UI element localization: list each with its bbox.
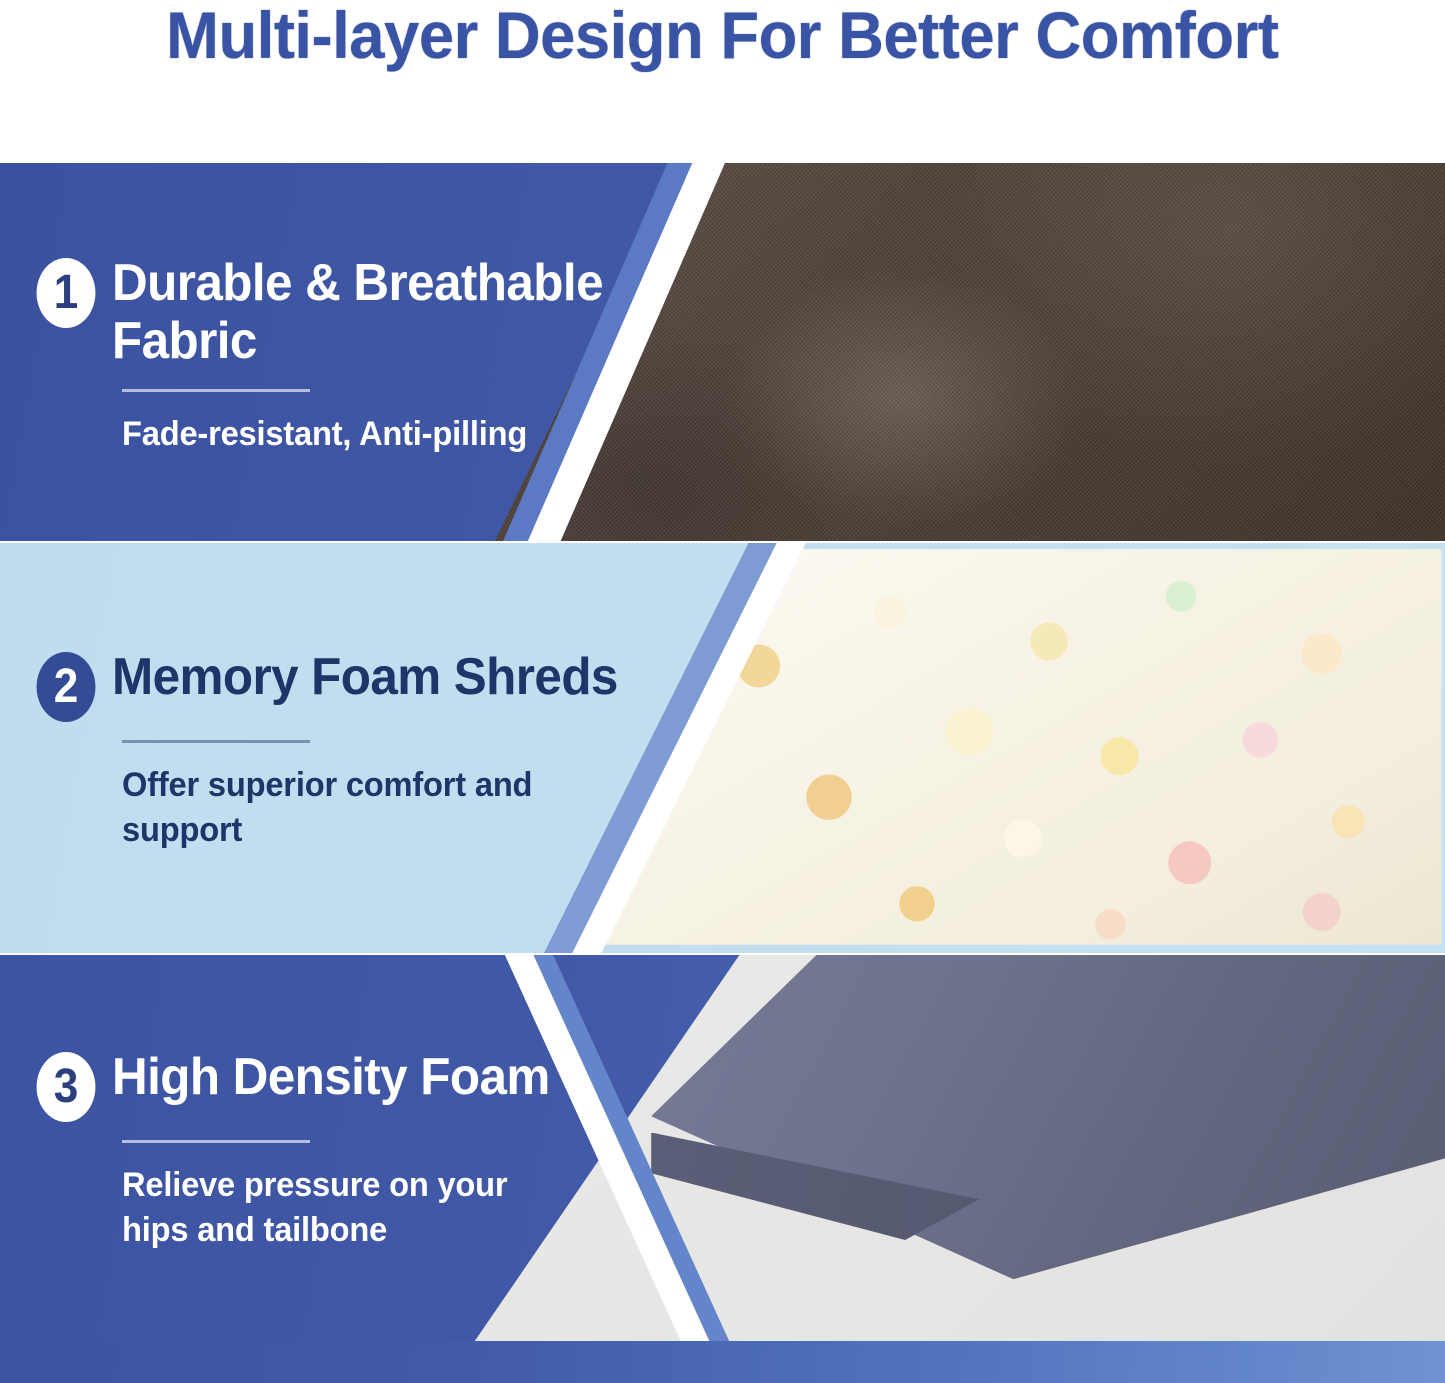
bottom-accent-bar — [0, 1341, 1445, 1383]
panel-1-divider — [122, 389, 310, 392]
step-number-badge-2: 2 — [37, 652, 96, 722]
panel-2-title: Memory Foam Shreds — [112, 648, 618, 707]
foam-block-top-face — [651, 955, 1445, 1279]
panel-2-heading-row: 2 Memory Foam Shreds — [34, 648, 660, 722]
panel-2-content: 2 Memory Foam Shreds Offer superior comf… — [0, 543, 660, 953]
panel-1-content: 1 Durable & Breathable Fabric Fade-resis… — [0, 163, 660, 541]
panel-2-divider — [122, 740, 310, 743]
panel-2-subtitle: Offer superior comfort and support — [122, 763, 564, 851]
page-title: Multi-layer Design For Better Comfort — [166, 0, 1278, 68]
panel-1-title: Durable & Breathable Fabric — [112, 254, 633, 372]
panel-3-heading-row: 3 High Density Foam — [34, 1048, 660, 1122]
feature-panel-3: 3 High Density Foam Relieve pressure on … — [0, 955, 1445, 1341]
feature-panel-2: 2 Memory Foam Shreds Offer superior comf… — [0, 543, 1445, 953]
panel-3-content: 3 High Density Foam Relieve pressure on … — [0, 955, 660, 1341]
product-infographic: Multi-layer Design For Better Comfort 1 … — [0, 0, 1445, 1383]
panel-1-heading-row: 1 Durable & Breathable Fabric — [34, 254, 660, 372]
step-number-badge-1: 1 — [37, 258, 96, 328]
panel-3-divider — [122, 1140, 310, 1143]
panel-3-title: High Density Foam — [112, 1048, 550, 1107]
step-number-badge-3: 3 — [37, 1052, 96, 1122]
feature-panel-1: 1 Durable & Breathable Fabric Fade-resis… — [0, 163, 1445, 541]
infographic-header: Multi-layer Design For Better Comfort — [0, 0, 1445, 163]
panel-1-subtitle: Fade-resistant, Anti-pilling — [122, 412, 564, 456]
panel-3-subtitle: Relieve pressure on your hips and tailbo… — [122, 1163, 564, 1251]
